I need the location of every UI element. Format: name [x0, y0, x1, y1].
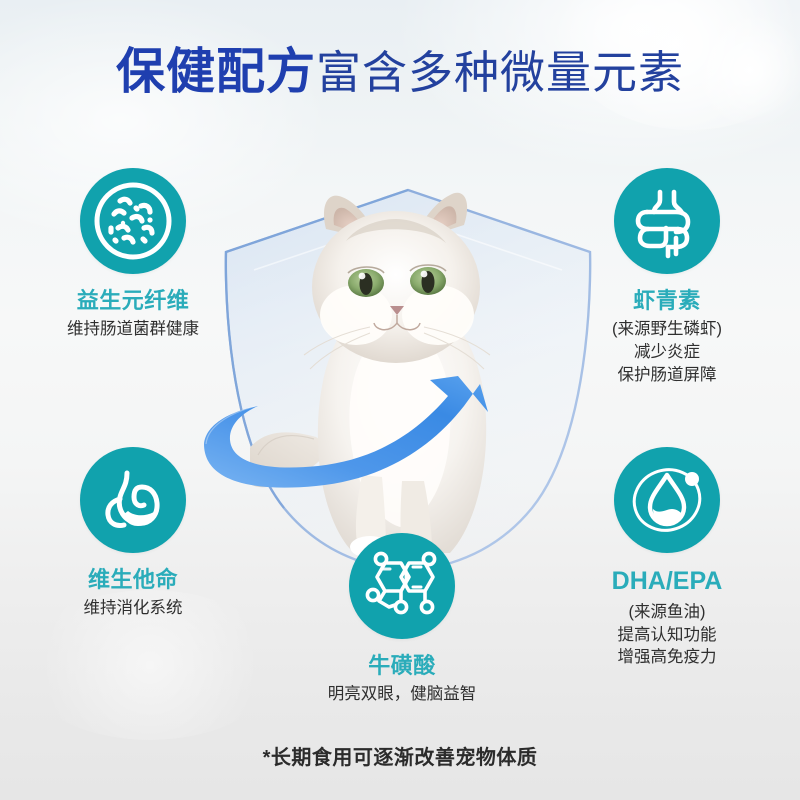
footnote: *长期食用可逐渐改善宠物体质 [0, 741, 800, 770]
feature-description: (来源鱼油) 提高认知功能 增强高免疫力 [557, 601, 777, 669]
feature-line: 增强高免疫力 [557, 646, 777, 669]
feature-dha-epa[interactable]: DHA/EPA (来源鱼油) 提高认知功能 增强高免疫力 [557, 447, 777, 669]
product-feature-poster: 保健配方富含多种微量元素 [0, 0, 800, 800]
oil-droplet-icon-circle [614, 447, 720, 553]
intestine-icon [614, 168, 720, 274]
feature-prebiotic[interactable]: 益生元纤维 维持肠道菌群健康 [23, 168, 243, 341]
feature-line: 减少炎症 [557, 341, 777, 364]
feature-description: 维持肠道菌群健康 [23, 318, 243, 341]
bacteria-icon-circle [80, 168, 186, 274]
page-title-emphasis: 保健配方 [116, 45, 316, 99]
feature-description: 维持消化系统 [23, 597, 243, 620]
feature-line: 维持消化系统 [23, 597, 243, 620]
feature-line: 维持肠道菌群健康 [23, 318, 243, 341]
bacteria-icon [80, 168, 186, 274]
feature-title: 益生元纤维 [23, 288, 243, 313]
feature-line: (来源鱼油) [557, 601, 777, 624]
feature-title: 虾青素 [557, 288, 777, 313]
stomach-icon [80, 447, 186, 553]
page-title: 保健配方富含多种微量元素 [0, 48, 800, 97]
page-title-rest: 富含多种微量元素 [316, 47, 684, 98]
oil-droplet-icon [614, 447, 720, 553]
molecule-icon-circle [349, 533, 455, 639]
feature-title: 牛磺酸 [292, 653, 512, 678]
feature-line: 明亮双眼，健脑益智 [292, 683, 512, 706]
feature-title: 维生他命 [23, 567, 243, 592]
feature-taurine[interactable]: 牛磺酸 明亮双眼，健脑益智 [292, 533, 512, 706]
feature-title: DHA/EPA [557, 567, 777, 596]
feature-line: 提高认知功能 [557, 624, 777, 647]
feature-description: 明亮双眼，健脑益智 [292, 683, 512, 706]
feature-line: 保护肠道屏障 [557, 364, 777, 387]
feature-line: (来源野生磷虾) [557, 318, 777, 341]
feature-description: (来源野生磷虾) 减少炎症 保护肠道屏障 [557, 318, 777, 386]
intestine-icon-circle [614, 168, 720, 274]
molecule-icon [349, 533, 455, 639]
feature-astaxanthin[interactable]: 虾青素 (来源野生磷虾) 减少炎症 保护肠道屏障 [557, 168, 777, 387]
stomach-icon-circle [80, 447, 186, 553]
feature-vitamin[interactable]: 维生他命 维持消化系统 [23, 447, 243, 620]
